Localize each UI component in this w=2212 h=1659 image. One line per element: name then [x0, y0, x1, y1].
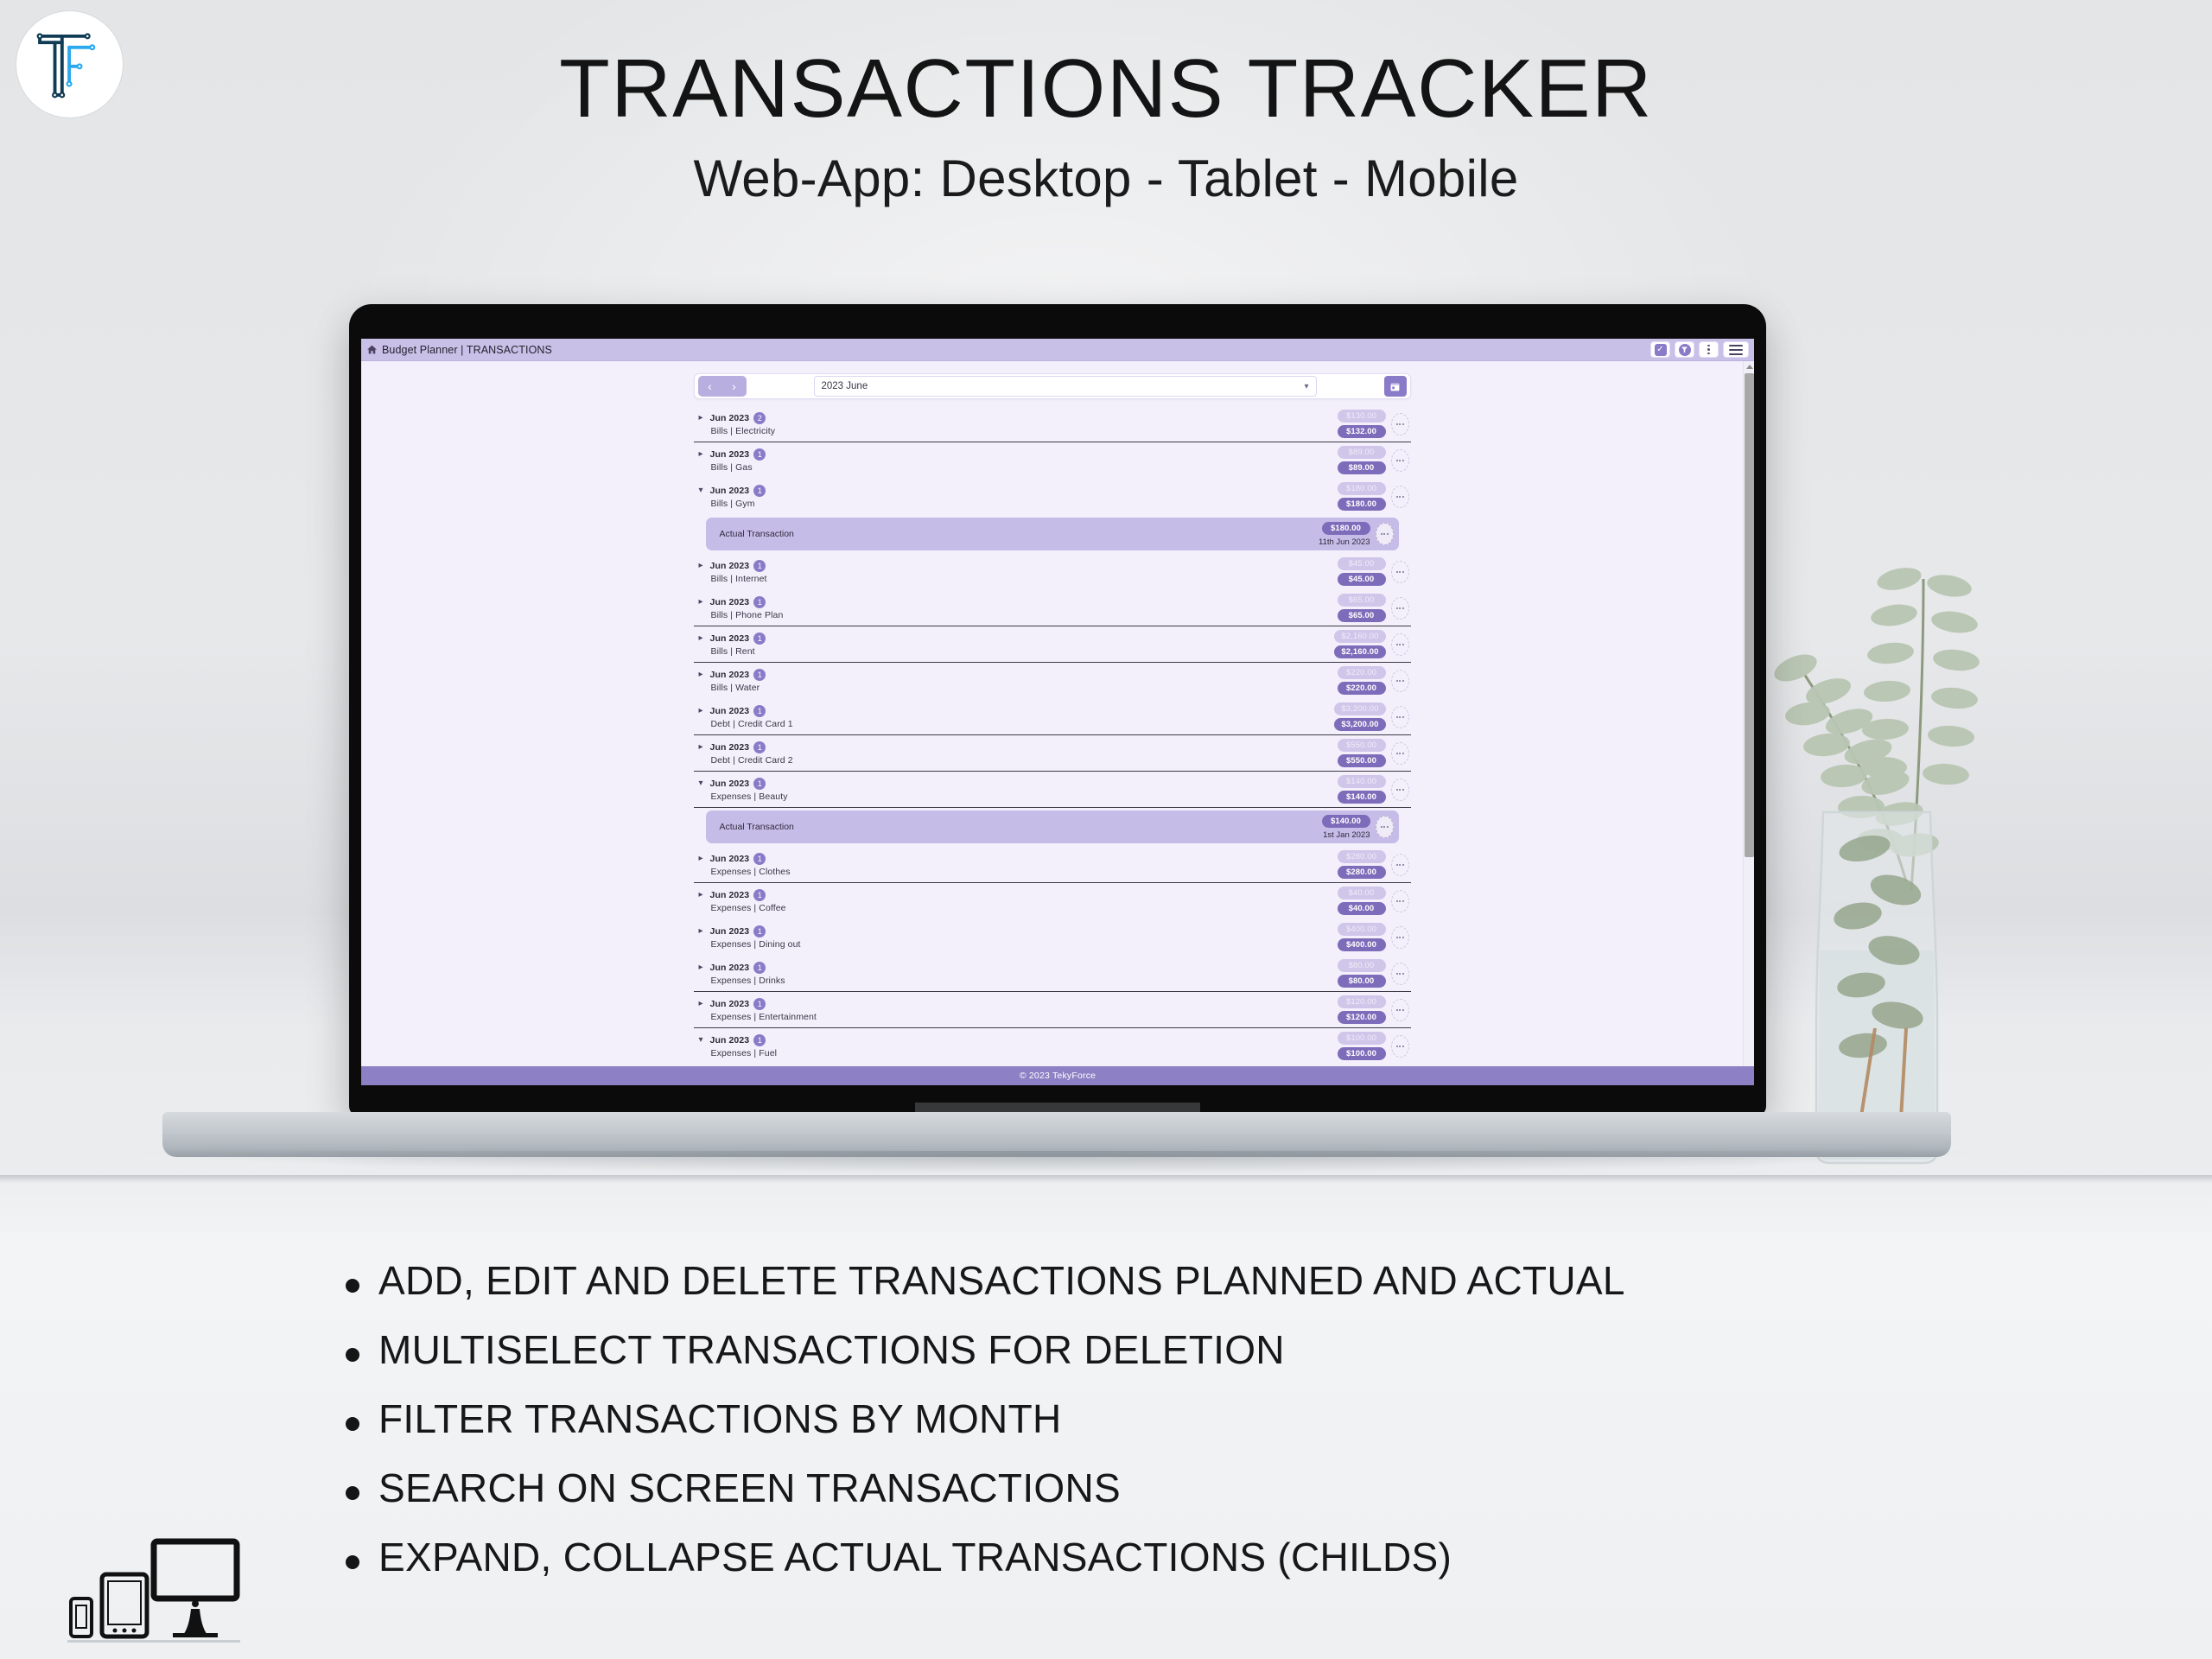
row-date: Jun 2023 — [710, 706, 750, 716]
row-date: Jun 2023 — [710, 999, 750, 1009]
row-date: Jun 2023 — [710, 1035, 750, 1046]
status-badge: 1 — [753, 632, 766, 645]
app-title-text: Budget Planner | TRANSACTIONS — [382, 344, 552, 356]
row-menu-button[interactable] — [1391, 449, 1409, 472]
actual-amount: $80.00 — [1338, 975, 1386, 988]
actual-amount: $400.00 — [1338, 938, 1386, 951]
home-icon — [366, 344, 378, 355]
month-toolbar: ‹ › 2023 June ▾ — [694, 373, 1411, 399]
row-menu-button[interactable] — [1391, 413, 1409, 435]
row-menu-button[interactable] — [1391, 963, 1409, 985]
mobile-icon — [71, 1599, 92, 1637]
row-date: Jun 2023 — [710, 413, 750, 423]
laptop-mockup: Budget Planner | TRANSACTIONS ✓ — [349, 304, 1766, 1185]
laptop-lid: Budget Planner | TRANSACTIONS ✓ — [349, 304, 1766, 1116]
row-menu-button[interactable] — [1391, 926, 1409, 949]
table-row[interactable]: ▸Jun 20231Bills | Gas$89.00$89.00 — [694, 442, 1411, 479]
hamburger-icon — [1729, 345, 1743, 355]
row-menu-button[interactable] — [1391, 633, 1409, 656]
chevron-right-icon[interactable]: ▸ — [699, 670, 706, 679]
brand-logo — [16, 10, 124, 118]
planned-amount: $89.00 — [1338, 446, 1386, 459]
month-select[interactable]: 2023 June ▾ — [814, 376, 1317, 397]
chevron-right-icon[interactable]: ▸ — [699, 742, 706, 752]
scrollbar-thumb[interactable] — [1745, 373, 1754, 857]
table-row[interactable]: ▸Jun 20231Expenses | Coffee$40.00$40.00 — [694, 883, 1411, 919]
chevron-right-icon[interactable]: ▸ — [699, 963, 706, 972]
actual-transaction-date: 11th Jun 2023 — [1319, 537, 1370, 547]
row-category: Bills | Rent — [699, 646, 1335, 657]
list-item: ADD, EDIT AND DELETE TRANSACTIONS PLANNE… — [346, 1257, 1866, 1304]
list-item: MULTISELECT TRANSACTIONS FOR DELETION — [346, 1326, 1866, 1373]
table-row[interactable]: ▾Jun 20231Expenses | Beauty$140.00$140.0… — [694, 772, 1411, 808]
table-row[interactable]: ▸Jun 20232Bills | Electricity$130.00$132… — [694, 406, 1411, 442]
row-date: Jun 2023 — [710, 963, 750, 973]
select-all-checkbox[interactable]: ✓ — [1650, 341, 1670, 358]
table-row[interactable]: ▸Jun 20231Expenses | Clothes$280.00$280.… — [694, 847, 1411, 883]
prev-month-button[interactable]: ‹ — [698, 376, 722, 397]
circle-badge-icon — [1679, 344, 1691, 356]
more-options-button[interactable] — [1699, 341, 1719, 358]
status-badge: 1 — [753, 669, 766, 681]
row-category: Debt | Credit Card 2 — [699, 755, 1338, 766]
bullet-icon — [346, 1555, 359, 1569]
scroll-up-icon[interactable] — [1746, 365, 1753, 369]
table-row[interactable]: ▾Jun 20231Bills | Gym$180.00$180.00 — [694, 479, 1411, 515]
table-row[interactable]: ▸Jun 20231Debt | Credit Card 2$550.00$55… — [694, 735, 1411, 772]
chevron-right-icon[interactable]: ▸ — [699, 561, 706, 570]
status-badge: 1 — [753, 853, 766, 865]
actual-amount: $280.00 — [1338, 866, 1386, 879]
row-date: Jun 2023 — [710, 633, 750, 644]
table-row[interactable]: ▸Jun 20231Debt | Credit Card 1$3,200.00$… — [694, 699, 1411, 735]
row-menu-button[interactable] — [1391, 742, 1409, 765]
table-row[interactable]: ▸Jun 20231Expenses | Entertainment$120.0… — [694, 992, 1411, 1028]
row-category: Expenses | Coffee — [699, 903, 1338, 913]
row-date: Jun 2023 — [710, 670, 750, 680]
filter-badge-button[interactable] — [1675, 341, 1694, 358]
row-date: Jun 2023 — [710, 449, 750, 460]
planned-amount: $80.00 — [1338, 959, 1386, 972]
chevron-right-icon[interactable]: ▸ — [699, 926, 706, 936]
row-menu-button[interactable] — [1391, 597, 1409, 620]
actual-row-menu-button[interactable] — [1376, 816, 1394, 838]
decorative-plant — [1754, 544, 2117, 1201]
app-footer: © 2023 TekyForce — [361, 1066, 1754, 1085]
chevron-right-icon[interactable]: ▸ — [699, 633, 706, 643]
app-titlebar: Budget Planner | TRANSACTIONS ✓ — [361, 339, 1754, 361]
planned-amount: $3,200.00 — [1334, 702, 1385, 715]
actual-amount: $45.00 — [1338, 573, 1386, 586]
row-category: Expenses | Dining out — [699, 939, 1338, 950]
next-month-button[interactable]: › — [722, 376, 747, 397]
row-category: Expenses | Clothes — [699, 867, 1338, 877]
row-menu-button[interactable] — [1391, 890, 1409, 912]
dots-vertical-icon — [1707, 345, 1710, 355]
row-menu-button[interactable] — [1391, 561, 1409, 583]
planned-amount: $120.00 — [1338, 995, 1386, 1008]
row-menu-button[interactable] — [1391, 670, 1409, 692]
budget-planner-app: Budget Planner | TRANSACTIONS ✓ — [361, 339, 1754, 1085]
actual-transaction-label: Actual Transaction — [720, 822, 1322, 832]
row-date: Jun 2023 — [710, 779, 750, 789]
planned-amount: $130.00 — [1338, 410, 1386, 423]
status-badge: 1 — [753, 778, 766, 790]
month-nav-group: ‹ › — [698, 376, 747, 397]
planned-amount: $220.00 — [1338, 666, 1386, 679]
row-category: Expenses | Entertainment — [699, 1012, 1338, 1022]
actual-amount: $180.00 — [1338, 498, 1386, 511]
row-menu-button[interactable] — [1391, 706, 1409, 728]
chevron-right-icon[interactable]: ▸ — [699, 597, 706, 607]
planned-amount: $2,160.00 — [1334, 630, 1385, 643]
table-row[interactable]: ▸Jun 20231Bills | Water$220.00$220.00 — [694, 663, 1411, 699]
table-row[interactable]: ▸Jun 20231Bills | Rent$2,160.00$2,160.00 — [694, 626, 1411, 663]
planned-amount: $65.00 — [1338, 594, 1386, 607]
status-badge: 1 — [753, 925, 766, 938]
chevron-down-icon[interactable]: ▾ — [699, 1035, 706, 1045]
actual-amount: $550.00 — [1338, 754, 1386, 767]
actual-amount: $120.00 — [1338, 1011, 1386, 1024]
chevron-right-icon[interactable]: ▸ — [699, 890, 706, 899]
bullet-icon — [346, 1417, 359, 1431]
status-badge: 1 — [753, 485, 766, 497]
row-category: Bills | Water — [699, 683, 1338, 693]
row-category: Bills | Internet — [699, 574, 1338, 584]
list-item: EXPAND, COLLAPSE ACTUAL TRANSACTIONS (CH… — [346, 1534, 1866, 1580]
row-date: Jun 2023 — [710, 742, 750, 753]
feature-text: SEARCH ON SCREEN TRANSACTIONS — [378, 1465, 1121, 1511]
status-badge: 1 — [753, 889, 766, 901]
status-badge: 1 — [753, 596, 766, 608]
device-support-icons — [67, 1531, 240, 1648]
chevron-down-icon[interactable]: ▾ — [699, 779, 706, 788]
chevron-down-icon: ▾ — [1304, 382, 1308, 391]
chevron-right-icon[interactable]: ▸ — [699, 706, 706, 715]
list-item: FILTER TRANSACTIONS BY MONTH — [346, 1395, 1866, 1442]
tf-monogram-icon — [30, 25, 110, 105]
planned-amount: $180.00 — [1338, 482, 1386, 495]
status-badge: 2 — [753, 412, 766, 424]
row-category: Expenses | Drinks — [699, 976, 1338, 986]
app-scrollbar[interactable] — [1743, 361, 1754, 1066]
chevron-right-icon[interactable]: ▸ — [699, 999, 706, 1008]
planned-amount: $100.00 — [1338, 1032, 1386, 1045]
status-badge: 1 — [753, 962, 766, 974]
actual-transaction-label: Actual Transaction — [720, 529, 1319, 539]
actual-amount: $100.00 — [1338, 1047, 1386, 1060]
status-badge: 1 — [753, 560, 766, 572]
month-select-value: 2023 June — [822, 381, 868, 391]
row-date: Jun 2023 — [710, 486, 750, 496]
calendar-button[interactable] — [1384, 376, 1407, 397]
bullet-icon — [346, 1486, 359, 1500]
actual-amount: $132.00 — [1338, 425, 1386, 438]
row-category: Bills | Phone Plan — [699, 610, 1338, 620]
row-category: Bills | Gym — [699, 499, 1338, 509]
actual-transaction-row[interactable]: Actual Transaction$140.001st Jan 2023 — [706, 810, 1399, 843]
row-date: Jun 2023 — [710, 597, 750, 607]
row-menu-button[interactable] — [1391, 999, 1409, 1021]
row-category: Bills | Gas — [699, 462, 1338, 473]
row-date: Jun 2023 — [710, 890, 750, 900]
laptop-screen: Budget Planner | TRANSACTIONS ✓ — [361, 339, 1754, 1085]
table-row[interactable]: ▸Jun 20231Bills | Phone Plan$65.00$65.00 — [694, 590, 1411, 626]
actual-amount: $3,200.00 — [1334, 718, 1385, 731]
actual-transaction-amount: $180.00 — [1322, 522, 1370, 535]
chevron-right-icon[interactable]: ▸ — [699, 854, 706, 863]
planned-amount: $45.00 — [1338, 557, 1386, 570]
row-menu-button[interactable] — [1391, 1035, 1409, 1058]
row-date: Jun 2023 — [710, 926, 750, 937]
row-category: Expenses | Fuel — [699, 1048, 1338, 1058]
actual-amount: $2,160.00 — [1334, 645, 1385, 658]
actual-amount: $220.00 — [1338, 682, 1386, 695]
row-category: Bills | Electricity — [699, 426, 1338, 436]
desktop-monitor-icon — [154, 1541, 237, 1637]
status-badge: 1 — [753, 705, 766, 717]
row-menu-button[interactable] — [1391, 854, 1409, 876]
chevron-down-icon[interactable]: ▾ — [699, 486, 706, 495]
actual-transaction-row[interactable]: Actual Transaction$180.0011th Jun 2023 — [706, 518, 1399, 550]
actual-transaction-date: 1st Jan 2023 — [1323, 830, 1370, 840]
row-date: Jun 2023 — [710, 854, 750, 864]
status-badge: 1 — [753, 448, 766, 461]
feature-text: ADD, EDIT AND DELETE TRANSACTIONS PLANNE… — [378, 1257, 1625, 1304]
bullet-icon — [346, 1348, 359, 1362]
feature-text: FILTER TRANSACTIONS BY MONTH — [378, 1395, 1062, 1442]
tablet-icon — [102, 1574, 147, 1637]
chevron-right-icon[interactable]: ▸ — [699, 449, 706, 459]
check-icon: ✓ — [1655, 344, 1667, 356]
laptop-shadow — [142, 1151, 1974, 1173]
table-row[interactable]: ▾Jun 20231Expenses | Fuel$100.00$100.00 — [694, 1028, 1411, 1065]
actual-transaction-amount: $140.00 — [1322, 815, 1370, 828]
planned-amount: $40.00 — [1338, 887, 1386, 899]
table-row[interactable]: ▸Jun 20231Bills | Internet$45.00$45.00 — [694, 554, 1411, 590]
chevron-right-icon[interactable]: ▸ — [699, 413, 706, 423]
row-menu-button[interactable] — [1391, 779, 1409, 801]
transactions-list: ▸Jun 20232Bills | Electricity$130.00$132… — [694, 406, 1411, 1085]
planned-amount: $400.00 — [1338, 923, 1386, 936]
feature-text: MULTISELECT TRANSACTIONS FOR DELETION — [378, 1326, 1285, 1373]
row-category: Expenses | Beauty — [699, 791, 1338, 802]
planned-amount: $140.00 — [1338, 775, 1386, 788]
page-title: TRANSACTIONS TRACKER — [0, 41, 2212, 137]
status-badge: 1 — [753, 1034, 766, 1046]
actual-amount: $140.00 — [1338, 791, 1386, 804]
planned-amount: $280.00 — [1338, 850, 1386, 863]
status-badge: 1 — [753, 998, 766, 1010]
feature-list: ADD, EDIT AND DELETE TRANSACTIONS PLANNE… — [346, 1257, 1866, 1603]
bullet-icon — [346, 1279, 359, 1293]
actual-amount: $89.00 — [1338, 461, 1386, 474]
actual-amount: $40.00 — [1338, 902, 1386, 915]
row-date: Jun 2023 — [710, 561, 750, 571]
actual-row-menu-button[interactable] — [1376, 523, 1394, 545]
actual-amount: $65.00 — [1338, 609, 1386, 622]
planned-amount: $550.00 — [1338, 739, 1386, 752]
feature-text: EXPAND, COLLAPSE ACTUAL TRANSACTIONS (CH… — [378, 1534, 1452, 1580]
status-badge: 1 — [753, 741, 766, 753]
calendar-icon — [1389, 381, 1401, 392]
table-row[interactable]: ▸Jun 20231Expenses | Dining out$400.00$4… — [694, 919, 1411, 956]
list-item: SEARCH ON SCREEN TRANSACTIONS — [346, 1465, 1866, 1511]
row-menu-button[interactable] — [1391, 486, 1409, 508]
row-category: Debt | Credit Card 1 — [699, 719, 1335, 729]
table-row[interactable]: ▸Jun 20231Expenses | Drinks$80.00$80.00 — [694, 956, 1411, 992]
main-menu-button[interactable] — [1723, 341, 1749, 358]
page-subtitle: Web-App: Desktop - Tablet - Mobile — [0, 149, 2212, 208]
